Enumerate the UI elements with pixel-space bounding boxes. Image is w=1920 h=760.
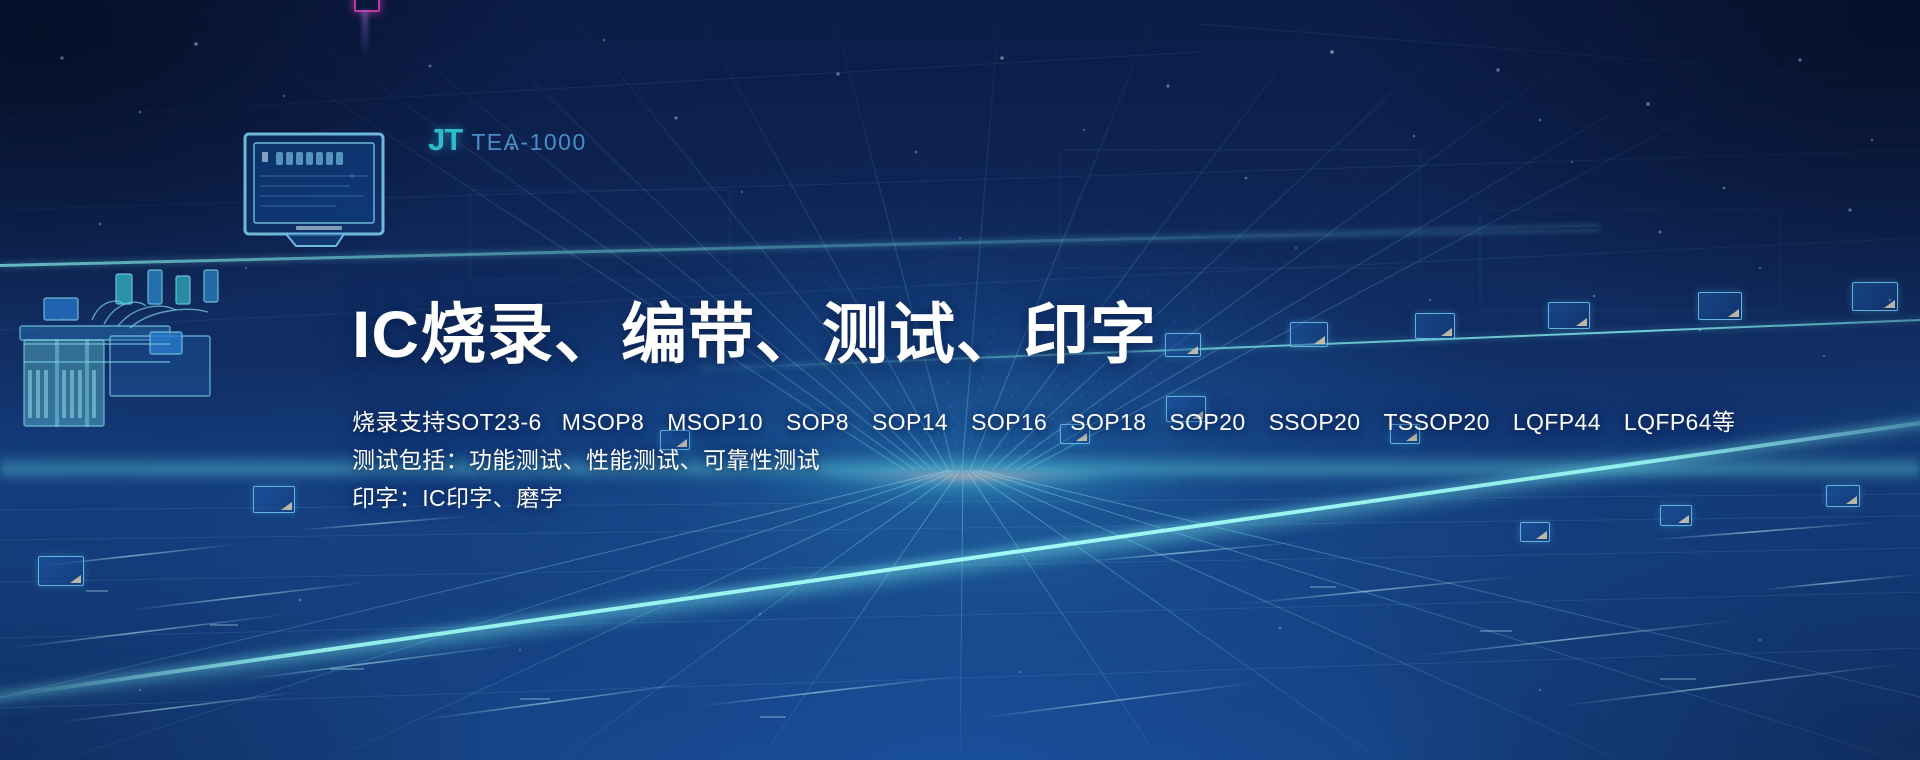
floating-screen-icon (38, 556, 84, 586)
package-type-item: LQFP64 (1624, 403, 1712, 441)
package-type-item: SOP16 (971, 403, 1047, 441)
banner-subtext-group: 烧录支持SOT23-6MSOP8MSOP10SOP8SOP14SOP16SOP1… (352, 403, 1632, 517)
package-type-item: SOP18 (1070, 403, 1146, 441)
package-type-item: MSOP8 (562, 403, 645, 441)
ceiling-light-beam-decoration (362, 10, 368, 58)
assembly-machine-illustration (0, 240, 230, 470)
page-title: IC烧录、编带、测试、印字 (352, 300, 1632, 369)
package-type-item: SOP20 (1169, 403, 1245, 441)
package-list: MSOP8MSOP10SOP8SOP14SOP16SOP18SOP20SSOP2… (562, 409, 1712, 435)
floating-screen-icon (1698, 292, 1742, 320)
banner-content: IC烧录、编带、测试、印字 烧录支持SOT23-6MSOP8MSOP10SOP8… (352, 300, 1632, 517)
burn-support-label: 烧录支持SOT23-6 (352, 403, 542, 441)
test-scope-line: 测试包括：功能测试、性能测试、可靠性测试 (352, 441, 1632, 479)
brand-logo-text: JT (428, 122, 462, 158)
floating-screen-icon (1826, 485, 1860, 507)
floating-screen-icon (1852, 282, 1898, 311)
floating-screen-icon (253, 486, 295, 513)
burn-support-line: 烧录支持SOT23-6MSOP8MSOP10SOP8SOP14SOP16SOP1… (352, 403, 1632, 441)
printing-scope-line: 印字：IC印字、磨字 (352, 479, 1632, 517)
package-type-item: TSSOP20 (1383, 403, 1489, 441)
monitor-illustration (240, 128, 390, 248)
brand-model-text: TEA-1000 (471, 129, 587, 156)
hero-banner: JT TEA-1000 IC烧录、编带、测试、印字 烧录支持SOT23-6MSO… (0, 0, 1920, 760)
floating-screen-icon (1660, 505, 1692, 526)
package-type-item: SOP8 (786, 403, 849, 441)
package-type-item: LQFP44 (1513, 403, 1601, 441)
package-type-item: SOP14 (872, 403, 948, 441)
package-type-item: MSOP10 (667, 403, 763, 441)
package-type-item: SSOP20 (1269, 403, 1361, 441)
package-list-suffix: 等 (1712, 403, 1735, 441)
machine-brand-lockup: JT TEA-1000 (428, 122, 587, 158)
floating-screen-icon (1520, 522, 1550, 542)
